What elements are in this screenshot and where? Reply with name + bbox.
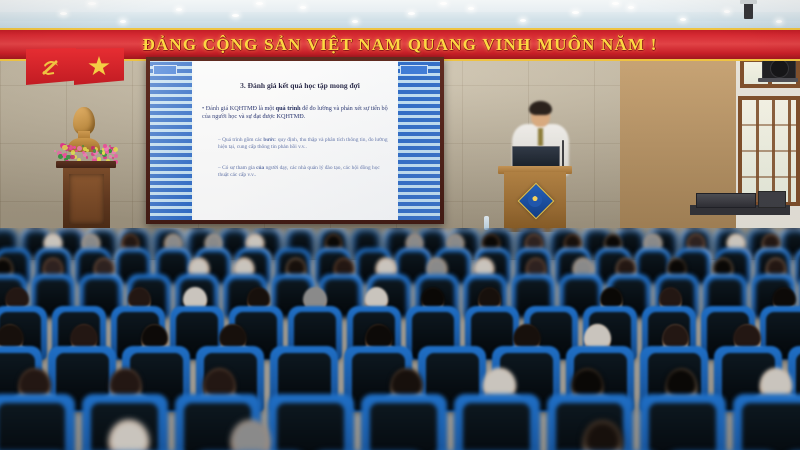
flower-arrangement — [52, 143, 118, 162]
downlight-7 — [408, 12, 415, 15]
communist-party-flag — [26, 48, 76, 85]
audience-member-hair — [616, 258, 636, 276]
window-transom-3 — [742, 176, 796, 178]
slide-sub-bullet-1: – Quá trình gồm các bước: quy định, thu … — [218, 137, 390, 151]
downlight-4 — [232, 14, 239, 17]
equipment-rack — [758, 191, 786, 208]
auditorium-seat[interactable] — [640, 394, 726, 450]
audience-member-hair — [247, 287, 270, 308]
audience-member-hair — [772, 287, 795, 308]
audience-member-hair — [5, 287, 28, 308]
yellow-star-icon — [88, 56, 110, 77]
seat-cushion — [0, 403, 65, 450]
audio-mixer-icon — [696, 193, 756, 208]
flower — [113, 147, 118, 152]
projection-screen[interactable]: 3. Đánh giá kết quả học tập mong đợi • Đ… — [150, 61, 440, 220]
audience-member-hair — [713, 258, 733, 276]
conference-hall-photo: ĐẢNG CỘNG SẢN VIỆT NAM QUANG VINH MUÔN N… — [0, 0, 800, 450]
audience-member-hair — [513, 324, 541, 349]
audience-member-hair — [219, 324, 247, 349]
audience-member-hair — [667, 258, 687, 276]
audience-member-hair — [189, 258, 209, 276]
hammer-and-sickle-icon — [40, 57, 62, 77]
audience-member-hair — [286, 258, 306, 276]
podium-emblem-center-icon — [528, 193, 542, 207]
slide-sub-1-bold: bước — [263, 137, 275, 143]
flower — [86, 156, 89, 159]
pedestal-top — [56, 161, 116, 168]
ceiling-speaker-icon — [744, 2, 753, 19]
audience-member-hair — [334, 258, 354, 276]
flower — [93, 156, 96, 159]
slide-sub-bullet-2: – Có sự tham gia của người dạy, các nhà … — [218, 165, 390, 179]
downlight-1 — [60, 12, 67, 15]
auditorium-seat[interactable] — [361, 394, 447, 450]
window-transom-1 — [742, 124, 796, 126]
downlight-14 — [776, 20, 782, 23]
downlight-6 — [352, 20, 358, 23]
slide-side-panel-left — [150, 61, 192, 220]
flower — [102, 151, 106, 155]
audience-member-hair — [303, 287, 326, 308]
flower — [93, 149, 96, 152]
audience-member-hair — [109, 368, 142, 397]
seat-cushion — [277, 403, 344, 450]
ceiling-speaker-bracket — [740, 0, 757, 4]
audience-member-hair — [526, 258, 546, 276]
audience-seating — [0, 228, 800, 450]
audience-member-hair — [427, 258, 447, 276]
audience-member-hair — [94, 258, 114, 276]
audience-member-hair — [376, 258, 396, 276]
audience-member-hair — [478, 287, 501, 308]
flower — [70, 155, 75, 160]
downlight-2 — [120, 20, 126, 23]
audience-member-hair — [573, 258, 593, 276]
downlight-18 — [612, 2, 619, 5]
slide-content: 3. Đánh giá kết quả học tập mong đợi • Đ… — [194, 61, 398, 220]
audience-member-hair — [70, 324, 98, 349]
auditorium-seat[interactable] — [0, 394, 75, 450]
audience-member-hair — [231, 420, 270, 450]
presenter-tie — [538, 128, 543, 146]
auditorium-seat[interactable] — [268, 394, 354, 450]
flower — [109, 155, 112, 158]
auditorium-seat[interactable] — [733, 394, 800, 450]
audience-member-hair — [474, 258, 494, 276]
downlight-3 — [176, 8, 182, 11]
slide-bullet-1-bold: quá trình — [276, 105, 301, 112]
presenter-hair — [529, 101, 552, 115]
downlight-10 — [572, 11, 579, 14]
seat-cushion — [742, 403, 800, 450]
audience-member-hair — [390, 368, 423, 397]
slide-tag-right — [400, 65, 428, 75]
audience-member-hair — [365, 324, 393, 349]
speaker-mount-bracket — [758, 78, 798, 82]
slide-side-panel-right — [398, 61, 440, 220]
flower — [114, 154, 118, 158]
audience-member-hair — [659, 287, 682, 308]
slide-title: 3. Đánh giá kết quả học tập mong đợi — [212, 81, 388, 90]
audience-member-hair — [128, 287, 151, 308]
downlight-17 — [440, 2, 447, 5]
pedestal-panel — [69, 174, 104, 224]
audience-member-hair — [733, 324, 761, 349]
downlight-5 — [300, 6, 306, 9]
audience-member-hair — [43, 258, 63, 276]
audience-member-hair — [203, 368, 236, 397]
downlight-13 — [724, 10, 730, 13]
bullet-marker: • — [202, 105, 204, 112]
window-transom-2 — [742, 150, 796, 152]
downlight-12 — [680, 18, 686, 21]
audience-member-hair — [584, 324, 612, 349]
flower — [67, 145, 69, 147]
flower — [73, 146, 76, 149]
audience-member-hair — [483, 368, 516, 397]
seat-cushion — [463, 403, 530, 450]
auditorium-seat[interactable] — [795, 248, 800, 284]
audience-member-hair — [365, 287, 388, 308]
slide-bullet-1: • Đánh giá KQHTMĐ là một quá trình để đo… — [202, 105, 394, 121]
banner-text: ĐẢNG CỘNG SẢN VIỆT NAM QUANG VINH MUÔN N… — [142, 35, 657, 55]
downlight-8 — [468, 7, 474, 10]
flags-group — [26, 48, 126, 88]
downlight-15 — [88, 2, 96, 5]
pedestal-body — [63, 168, 110, 228]
downlight-11 — [628, 6, 634, 9]
slide-bullet-1-lead: Đánh giá KQHTMĐ là một — [206, 105, 276, 112]
audience-member-hair — [662, 324, 690, 349]
audience-member-hair — [766, 258, 786, 276]
downlight-16 — [256, 2, 263, 5]
sub-bullet-marker-1: – — [218, 137, 221, 143]
flower — [54, 150, 56, 152]
slide-tag-left — [153, 65, 177, 75]
audience-member-hair — [183, 287, 206, 308]
audience-member-hair — [421, 287, 444, 308]
auditorium-seat[interactable] — [454, 394, 540, 450]
seat-cushion — [370, 403, 437, 450]
audience-member-hair — [18, 368, 51, 397]
seat-cushion — [649, 403, 716, 450]
slide-sub-1-lead: Quá trình gồm các — [222, 137, 263, 143]
vietnam-national-flag — [74, 48, 124, 85]
downlight-9 — [520, 19, 526, 22]
audience-member-hair — [109, 420, 148, 450]
speaker-cone-icon — [770, 59, 789, 78]
sub-bullet-marker-2: – — [218, 165, 221, 171]
slide-sub-2-lead: Có sự tham gia — [222, 165, 256, 171]
flower — [103, 144, 107, 148]
audience-member-hair — [234, 258, 254, 276]
audience-member-hair — [600, 287, 623, 308]
